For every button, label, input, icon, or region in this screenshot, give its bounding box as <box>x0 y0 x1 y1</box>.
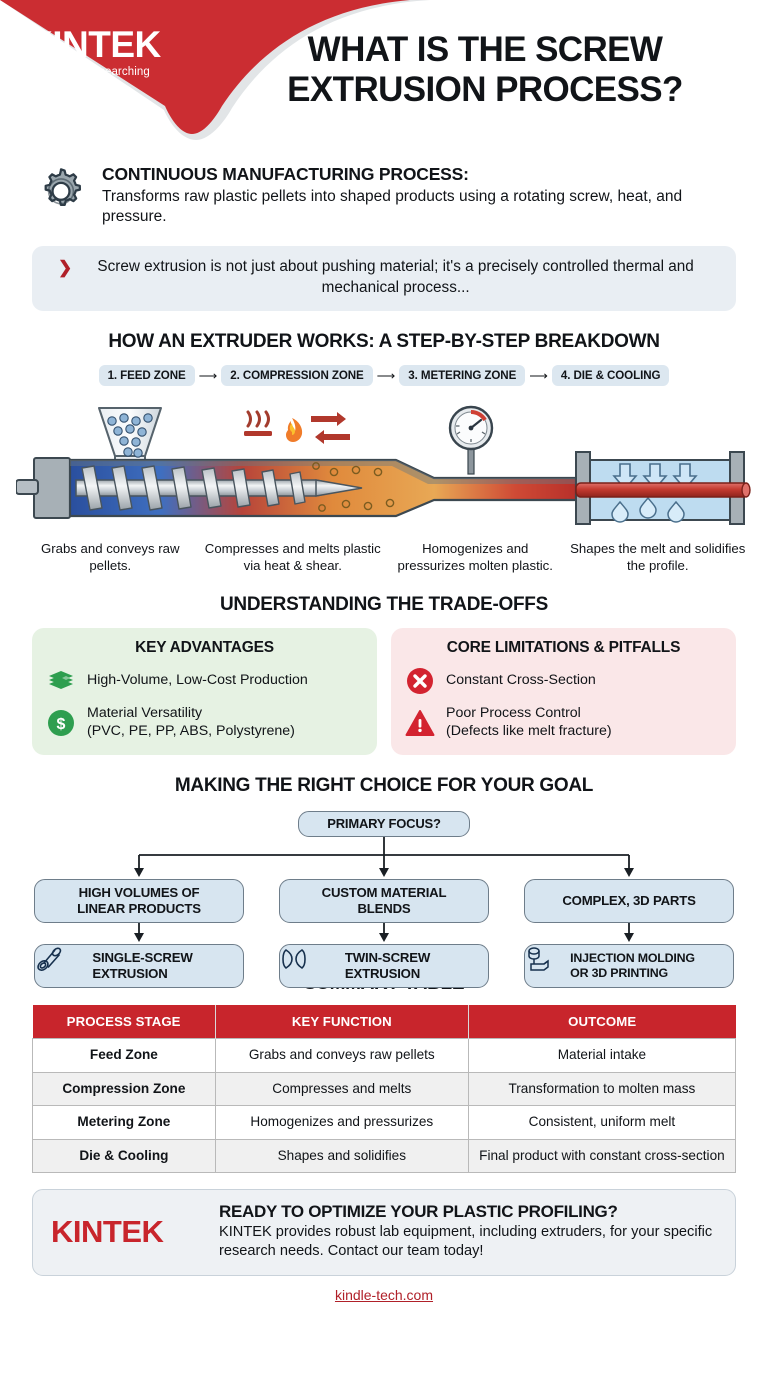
limitation-text: Constant Cross-Section <box>446 672 596 690</box>
criteria-line2: BLENDS <box>322 901 447 917</box>
col-key-function: KEY FUNCTION <box>215 1005 468 1039</box>
criteria-line1: COMPLEX, 3D PARTS <box>562 893 695 909</box>
intro-body: Transforms raw plastic pellets into shap… <box>102 187 738 228</box>
result-line1: INJECTION MOLDING <box>570 951 695 965</box>
decision-root-node[interactable]: PRIMARY FOCUS? <box>298 811 470 837</box>
decision-result-twin-screw[interactable]: TWIN-SCREW EXTRUSION <box>279 944 489 988</box>
tradeoff-cards: KEY ADVANTAGES High-Volume, Low-Cost Pro… <box>0 628 768 755</box>
limitation-item: Constant Cross-Section <box>405 666 722 696</box>
cell-function: Homogenizes and pressurizes <box>215 1106 468 1140</box>
advantage-item: $ Material Versatility (PVC, PE, PP, ABS… <box>46 705 363 741</box>
result-line2: EXTRUSION <box>92 966 167 981</box>
table-row: Metering Zone Homogenizes and pressurize… <box>33 1106 736 1140</box>
cell-stage: Metering Zone <box>33 1106 216 1140</box>
step-chip-die-cooling[interactable]: 4. DIE & COOLING <box>552 365 670 386</box>
cta-heading: READY TO OPTIMIZE YOUR PLASTIC PROFILING… <box>219 1202 717 1222</box>
cta-brand-logo: KINTEK <box>51 1216 203 1247</box>
table-row: Feed Zone Grabs and conveys raw pellets … <box>33 1039 736 1073</box>
core-limitations-card: CORE LIMITATIONS & PITFALLS Constant Cro… <box>391 628 736 755</box>
col-outcome: OUTCOME <box>468 1005 735 1039</box>
cell-stage: Feed Zone <box>33 1039 216 1073</box>
decision-section-title: MAKING THE RIGHT CHOICE FOR YOUR GOAL <box>0 775 768 797</box>
core-limitations-title: CORE LIMITATIONS & PITFALLS <box>405 639 722 657</box>
page-title-line1: WHAT IS THE SCREW <box>220 30 750 70</box>
process-step-chips: 1. FEED ZONE ⟶ 2. COMPRESSION ZONE ⟶ 3. … <box>0 365 768 386</box>
decision-result-injection-molding[interactable]: INJECTION MOLDING OR 3D PRINTING <box>524 944 734 988</box>
cta-banner: KINTEK READY TO OPTIMIZE YOUR PLASTIC PR… <box>32 1189 736 1276</box>
summary-table-wrap: PROCESS STAGE KEY FUNCTION OUTCOME Feed … <box>0 1005 768 1173</box>
step-chip-feed-zone[interactable]: 1. FEED ZONE <box>99 365 195 386</box>
step-arrow-icon: ⟶ <box>529 369 548 382</box>
cell-function: Shapes and solidifies <box>215 1139 468 1173</box>
pressure-gauge-icon <box>450 407 492 474</box>
limitation-item: Poor Process Control (Defects like melt … <box>405 705 722 741</box>
money-stack-icon <box>46 666 76 696</box>
criteria-line1: HIGH VOLUMES OF <box>77 885 201 901</box>
advantage-item: High-Volume, Low-Cost Production <box>46 666 363 696</box>
result-line2: EXTRUSION <box>345 966 420 981</box>
intro-section: CONTINUOUS MANUFACTURING PROCESS: Transf… <box>0 148 768 228</box>
process-captions: Grabs and conveys raw pellets. Compresse… <box>0 541 768 574</box>
page-title-line2: EXTRUSION PROCESS? <box>220 70 750 110</box>
svg-text:$: $ <box>57 716 66 733</box>
limitation-text: Poor Process Control (Defects like melt … <box>446 705 612 741</box>
summary-table: PROCESS STAGE KEY FUNCTION OUTCOME Feed … <box>32 1005 736 1173</box>
table-header-row: PROCESS STAGE KEY FUNCTION OUTCOME <box>33 1005 736 1039</box>
step-chip-compression-zone[interactable]: 2. COMPRESSION ZONE <box>221 365 372 386</box>
cell-outcome: Material intake <box>468 1039 735 1073</box>
heat-shear-icon <box>244 412 350 444</box>
x-circle-icon <box>405 666 435 696</box>
table-row: Die & Cooling Shapes and solidifies Fina… <box>33 1139 736 1173</box>
result-line1: TWIN-SCREW <box>345 950 430 965</box>
extruder-diagram <box>0 390 768 535</box>
caption-metering-zone: Homogenizes and pressurizes molten plast… <box>387 541 564 574</box>
step-chip-metering-zone[interactable]: 3. METERING ZONE <box>399 365 525 386</box>
key-advantages-title: KEY ADVANTAGES <box>46 639 363 657</box>
cta-body: KINTEK provides robust lab equipment, in… <box>219 1223 717 1261</box>
process-section-title: HOW AN EXTRUDER WORKS: A STEP-BY-STEP BR… <box>0 331 768 353</box>
cell-outcome: Consistent, uniform melt <box>468 1106 735 1140</box>
tradeoffs-section-title: UNDERSTANDING THE TRADE-OFFS <box>0 594 768 616</box>
cell-stage: Die & Cooling <box>33 1139 216 1173</box>
dollar-coin-icon: $ <box>46 708 76 738</box>
cooling-bath <box>576 452 750 524</box>
decision-criteria-high-volumes[interactable]: HIGH VOLUMES OF LINEAR PRODUCTS <box>34 879 244 923</box>
warning-triangle-icon <box>405 708 435 738</box>
criteria-line1: CUSTOM MATERIAL <box>322 885 447 901</box>
caption-feed-zone: Grabs and conveys raw pellets. <box>22 541 199 574</box>
cell-outcome: Transformation to molten mass <box>468 1072 735 1106</box>
caption-compression-zone: Compresses and melts plastic via heat & … <box>205 541 382 574</box>
chevron-right-icon: ❯ <box>58 257 72 278</box>
result-line2: OR 3D PRINTING <box>570 966 668 980</box>
decision-result-single-screw[interactable]: SINGLE-SCREW EXTRUSION <box>34 944 244 988</box>
decision-tree: PRIMARY FOCUS? HIGH VOLUMES OF LINEAR PR… <box>0 807 768 967</box>
footer-url-link[interactable]: kindle-tech.com <box>0 1287 768 1303</box>
table-row: Compression Zone Compresses and melts Tr… <box>33 1072 736 1106</box>
cell-outcome: Final product with constant cross-sectio… <box>468 1139 735 1173</box>
advantage-text: High-Volume, Low-Cost Production <box>87 672 308 690</box>
step-arrow-icon: ⟶ <box>199 369 218 382</box>
cell-function: Grabs and conveys raw pellets <box>215 1039 468 1073</box>
result-line1: SINGLE-SCREW <box>92 950 192 965</box>
col-process-stage: PROCESS STAGE <box>33 1005 216 1039</box>
intro-heading: CONTINUOUS MANUFACTURING PROCESS: <box>102 164 738 186</box>
page-header: KINTEK Solution for researching WHAT IS … <box>0 0 768 148</box>
quote-text: Screw extrusion is not just about pushin… <box>81 257 710 298</box>
cell-function: Compresses and melts <box>215 1072 468 1106</box>
gear-icon <box>34 162 88 225</box>
criteria-line2: LINEAR PRODUCTS <box>77 901 201 917</box>
step-arrow-icon: ⟶ <box>377 369 396 382</box>
advantage-text: Material Versatility (PVC, PE, PP, ABS, … <box>87 705 295 741</box>
decision-criteria-complex-3d[interactable]: COMPLEX, 3D PARTS <box>524 879 734 923</box>
decision-criteria-custom-blends[interactable]: CUSTOM MATERIAL BLENDS <box>279 879 489 923</box>
page-title: WHAT IS THE SCREW EXTRUSION PROCESS? <box>220 30 750 111</box>
cell-stage: Compression Zone <box>33 1072 216 1106</box>
key-advantages-card: KEY ADVANTAGES High-Volume, Low-Cost Pro… <box>32 628 377 755</box>
cta-logo-wordmark: KINTEK <box>51 1216 203 1247</box>
caption-die-cooling: Shapes the melt and solidifies the profi… <box>570 541 747 574</box>
quote-banner: ❯ Screw extrusion is not just about push… <box>32 246 736 311</box>
